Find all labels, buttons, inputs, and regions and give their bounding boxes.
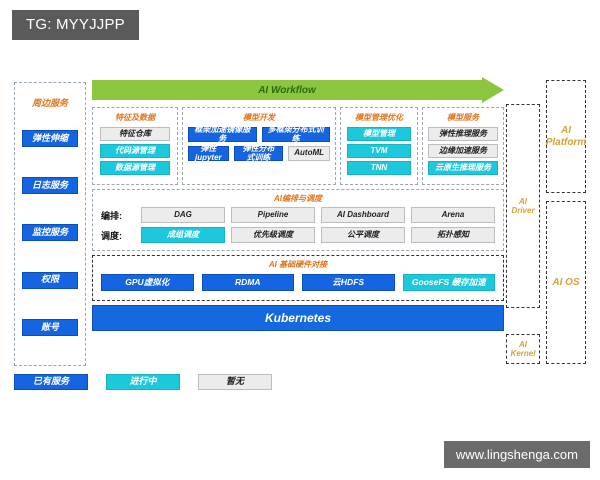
chip-elastic-distributed-training[interactable]: 弹性分布式训练 — [234, 146, 284, 161]
peripheral-services-title: 周边服务 — [32, 96, 68, 109]
chip-goosefs-cache-accel[interactable]: GooseFS 缓存加速 — [403, 274, 496, 291]
driver-kernel-column: AI Driver AI Kernel — [506, 104, 540, 366]
orchestration-title: AI编排与调度 — [274, 193, 322, 204]
ai-workflow-label: AI Workflow — [258, 85, 316, 96]
legend-item-none: 暂无 — [198, 374, 272, 390]
chip-edge-accel-service[interactable]: 边缘加速服务 — [428, 144, 498, 158]
chip-automl[interactable]: AutoML — [288, 146, 330, 161]
peripheral-services-list: 弹性伸缩 日志服务 监控服务 权限 账号 — [15, 109, 85, 365]
kubernetes-band: Kubernetes — [92, 305, 504, 331]
chip-dag[interactable]: DAG — [141, 207, 225, 223]
chip-elastic-jupyter[interactable]: 弹性jupyter — [188, 146, 229, 161]
group-feature-and-data: 特征及数据 特征仓库 代码源管理 数据源管理 — [92, 107, 178, 185]
chip-ai-dashboard[interactable]: AI Dashboard — [321, 207, 405, 223]
development-row-1: 框架加速镜像服务 多框架分布式训练 — [188, 127, 330, 142]
chip-code-source-management[interactable]: 代码源管理 — [100, 144, 170, 158]
orchestration-row-label-arrange: 编排: — [101, 209, 141, 222]
chip-gang-scheduling[interactable]: 成组调度 — [141, 227, 225, 243]
kubernetes-bar[interactable]: Kubernetes — [92, 305, 504, 331]
chip-gpu-virtualization[interactable]: GPU虚拟化 — [101, 274, 194, 291]
group-model-development: 模型开发 框架加速镜像服务 多框架分布式训练 弹性jupyter 弹性分布式训练… — [182, 107, 336, 185]
group-feature-title: 特征及数据 — [115, 112, 155, 123]
architecture-diagram: 周边服务 弹性伸缩 日志服务 监控服务 权限 账号 AI Workflow 特征… — [14, 78, 586, 366]
hardware-chips: GPU虚拟化 RDMA 云HDFS GooseFS 缓存加速 — [101, 274, 495, 291]
tg-badge: TG: MYYJJPP — [12, 10, 139, 40]
orchestration-panel: AI编排与调度 编排: DAG Pipeline AI Dashboard Ar… — [92, 189, 504, 251]
chip-feature-store[interactable]: 特征仓库 — [100, 127, 170, 141]
group-model-management-optimization: 模型管理优化 模型管理 TVM TNN — [340, 107, 418, 185]
watermark: www.lingshenga.com — [444, 441, 590, 468]
ai-os-box: AI OS — [546, 201, 586, 364]
ai-platform-box: AI Platform — [546, 80, 586, 193]
hardware-panel: AI 基础硬件对接 GPU虚拟化 RDMA 云HDFS GooseFS 缓存加速 — [92, 255, 504, 301]
group-management-title: 模型管理优化 — [355, 112, 403, 123]
chip-framework-accel-image-service[interactable]: 框架加速镜像服务 — [188, 127, 257, 142]
chip-tnn[interactable]: TNN — [347, 161, 411, 175]
peripheral-services-panel: 周边服务 弹性伸缩 日志服务 监控服务 权限 账号 — [14, 82, 86, 366]
ai-driver-box: AI Driver — [506, 104, 540, 308]
hardware-title: AI 基础硬件对接 — [269, 259, 327, 270]
development-row-2: 弹性jupyter 弹性分布式训练 AutoML — [188, 146, 330, 161]
group-development-title: 模型开发 — [243, 112, 275, 123]
sidebar-item-permission[interactable]: 权限 — [22, 272, 78, 289]
legend-item-in-progress: 进行中 — [106, 374, 180, 390]
chip-cloud-hdfs[interactable]: 云HDFS — [302, 274, 395, 291]
group-serving-title: 模型服务 — [447, 112, 479, 123]
orchestration-row-label-schedule: 调度: — [101, 229, 141, 242]
sidebar-item-monitor-service[interactable]: 监控服务 — [22, 224, 78, 241]
workflow-groups-band: 特征及数据 特征仓库 代码源管理 数据源管理 模型开发 框架加速镜像服务 多框架… — [92, 107, 504, 185]
chip-fair-scheduling[interactable]: 公平调度 — [321, 227, 405, 243]
legend: 已有服务 进行中 暂无 — [14, 374, 272, 390]
legend-item-existing: 已有服务 — [14, 374, 88, 390]
sidebar-item-log-service[interactable]: 日志服务 — [22, 177, 78, 194]
ai-kernel-box: AI Kernel — [506, 334, 540, 364]
chip-priority-scheduling[interactable]: 优先级调度 — [231, 227, 315, 243]
diagram-content: AI Workflow 特征及数据 特征仓库 代码源管理 数据源管理 模型开发 … — [92, 78, 504, 366]
chip-topology-awareness[interactable]: 拓扑感知 — [411, 227, 495, 243]
orchestration-row-arrange: 编排: DAG Pipeline AI Dashboard Arena — [101, 207, 495, 223]
chip-rdma[interactable]: RDMA — [202, 274, 295, 291]
sidebar-item-account[interactable]: 账号 — [22, 319, 78, 336]
sidebar-item-elastic-scaling[interactable]: 弹性伸缩 — [22, 130, 78, 147]
chip-data-source-management[interactable]: 数据源管理 — [100, 161, 170, 175]
group-model-serving: 模型服务 弹性推理服务 边缘加速服务 云原生推理服务 — [422, 107, 504, 185]
chip-arena[interactable]: Arena — [411, 207, 495, 223]
orchestration-band: AI编排与调度 编排: DAG Pipeline AI Dashboard Ar… — [92, 189, 504, 251]
platform-os-column: AI Platform AI OS — [546, 78, 586, 366]
chip-model-management[interactable]: 模型管理 — [347, 127, 411, 141]
orchestration-row-schedule: 调度: 成组调度 优先级调度 公平调度 拓扑感知 — [101, 227, 495, 243]
arrow-head-icon — [482, 77, 504, 103]
chip-elastic-inference-service[interactable]: 弹性推理服务 — [428, 127, 498, 141]
orchestration-chips-schedule: 成组调度 优先级调度 公平调度 拓扑感知 — [141, 227, 495, 243]
orchestration-chips-arrange: DAG Pipeline AI Dashboard Arena — [141, 207, 495, 223]
chip-tvm[interactable]: TVM — [347, 144, 411, 158]
chip-cloud-native-inference-service[interactable]: 云原生推理服务 — [428, 161, 498, 175]
ai-workflow-arrow: AI Workflow — [92, 78, 504, 102]
ai-workflow-arrow-body: AI Workflow — [92, 80, 482, 100]
chip-multi-framework-distributed-training[interactable]: 多框架分布式训练 — [262, 127, 331, 142]
chip-pipeline[interactable]: Pipeline — [231, 207, 315, 223]
hardware-band: AI 基础硬件对接 GPU虚拟化 RDMA 云HDFS GooseFS 缓存加速 — [92, 255, 504, 301]
